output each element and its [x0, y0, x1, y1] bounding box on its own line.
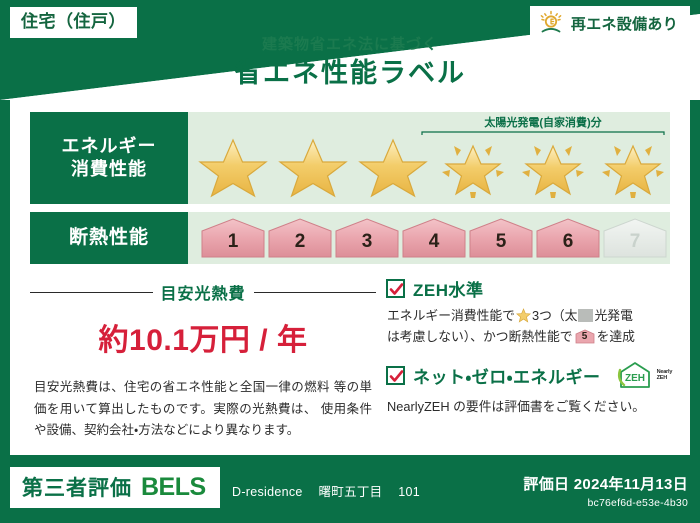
evaluation-date-value: 2024年11月13日 [574, 476, 688, 493]
star-6-solar [594, 132, 672, 198]
zeh-standard-body-line1: エネルギー消費性能で3つ（太光発電 [387, 306, 672, 327]
bels-third-party-label: 第三者評価 [22, 472, 132, 502]
cost-note-line1: 目安光熱費は、住宅の省エネ性能と全国一律の燃料 [34, 380, 330, 394]
insulation-grade-2: 2 [267, 217, 333, 259]
insulation-grade-2-value: 2 [267, 217, 333, 259]
claims-block: ZEH水準 エネルギー消費性能で3つ（太光発電 は考慮しない）、かつ断熱性能で5… [382, 276, 672, 444]
solar-badge-label: 再エネ設備あり [571, 13, 678, 34]
property-name: D-residence [232, 485, 303, 499]
inline-grade-badge: 5 [575, 329, 595, 344]
property-unit: 101 [398, 485, 420, 499]
claim-net-zero-head: ネット・ゼロ・エネルギー ZEH Nearly ZEH [386, 361, 672, 389]
evaluation-info: 評価日 2024年11月13日 bc76ef6d-e53e-4b30 [523, 473, 688, 509]
insulation-grade-5: 5 [468, 217, 534, 259]
star-2 [274, 132, 352, 198]
claim-zeh-standard: ZEH水準 エネルギー消費性能で3つ（太光発電 は考慮しない）、かつ断熱性能で5… [386, 276, 672, 347]
title-main: 省エネ性能ラベル [0, 56, 700, 91]
label-card: エネルギー 消費性能 太陽光発電(自家消費)分 [10, 100, 690, 455]
zeh-tag-line1: Nearly [657, 369, 673, 375]
energy-label-line1: エネルギー [62, 135, 157, 158]
evaluation-date-label: 評価日 [523, 476, 569, 493]
insulation-performance-label: 断熱性能 [30, 212, 188, 264]
net-zero-body-line1: NearlyZEH の要件は評価書をご覧ください。 [387, 397, 672, 418]
insulation-grade-area: 1 2 3 [188, 212, 670, 264]
bels-mark: BELS [141, 473, 206, 502]
star-3 [354, 132, 432, 198]
claim-net-zero-title: ネット・ゼロ・エネルギー [413, 363, 601, 388]
property-address: 曙町五丁目 [318, 485, 382, 499]
zeh-body-text-e: を達成 [597, 329, 635, 344]
insulation-grade-4-value: 4 [401, 217, 467, 259]
energy-label-line2: 消費性能 [71, 158, 147, 181]
zeh-house-logo: ZEH Nearly ZEH [615, 361, 673, 389]
claim-net-zero-energy: ネット・ゼロ・エネルギー ZEH Nearly ZEH [386, 361, 672, 418]
zeh-tag-line2: ZEH [657, 375, 667, 381]
net-zero-checkbox[interactable] [386, 366, 405, 385]
insulation-grade-1-value: 1 [200, 217, 266, 259]
insulation-grade-5-value: 5 [468, 217, 534, 259]
utility-cost-block: 目安光熱費 約10.1万円 / 年 目安光熱費は、住宅の省エネ性能と全国一律の燃… [30, 276, 382, 444]
lower-section: 目安光熱費 約10.1万円 / 年 目安光熱費は、住宅の省エネ性能と全国一律の燃… [30, 276, 670, 444]
energy-performance-row: エネルギー 消費性能 太陽光発電(自家消費)分 [30, 112, 670, 204]
heading-rule-right [254, 292, 377, 293]
inline-grade-value: 5 [575, 329, 595, 344]
zeh-body-text-c: 光発電 [594, 308, 632, 323]
insulation-grade-4: 4 [401, 217, 467, 259]
utility-cost-value: 約10.1万円 / 年 [30, 315, 376, 359]
zeh-body-text-d: は考慮しない）、かつ断熱性能で [387, 329, 573, 344]
inline-star-icon [516, 308, 531, 323]
claim-zeh-standard-head: ZEH水準 [386, 276, 672, 301]
zeh-body-text-a: エネルギー消費性能で [387, 308, 515, 323]
claim-net-zero-body: NearlyZEH の要件は評価書をご覧ください。 [387, 397, 672, 418]
energy-performance-label: エネルギー 消費性能 [30, 112, 188, 204]
solar-equipment-badge: 再エネ設備あり [530, 6, 690, 40]
insulation-performance-row: 断熱性能 [30, 212, 670, 264]
evaluation-id: bc76ef6d-e53e-4b30 [523, 497, 688, 509]
insulation-grade-7-value: 7 [602, 217, 668, 259]
zeh-nearly-tag: Nearly ZEH [657, 369, 673, 382]
footer-bar: 第三者評価 BELS D-residence 曙町五丁目 101 評価日 202… [0, 455, 700, 523]
star-4-solar [434, 132, 512, 198]
svg-text:ZEH: ZEH [625, 373, 645, 384]
energy-performance-label: 住宅（住戸） 再エネ設備あり 建築物省エネ法に基づく 省エネ性能ラベル [0, 0, 700, 523]
redacted-block [578, 309, 593, 322]
insulation-grade-3-value: 3 [334, 217, 400, 259]
insulation-grade-6: 6 [535, 217, 601, 259]
star-rating-group [188, 132, 672, 198]
energy-rating-area: 太陽光発電(自家消費)分 [188, 112, 672, 204]
insulation-grade-group: 1 2 3 [188, 217, 668, 259]
solar-bracket-label: 太陽光発電(自家消費)分 [420, 114, 666, 130]
insulation-grade-1: 1 [200, 217, 266, 259]
utility-cost-note: 目安光熱費は、住宅の省エネ性能と全国一律の燃料 等の単価を用いて算出したものです… [30, 377, 376, 442]
claim-zeh-standard-title: ZEH水準 [413, 276, 484, 301]
bels-plate: 第三者評価 BELS [10, 467, 220, 508]
check-icon [389, 369, 404, 384]
property-info: D-residence 曙町五丁目 101 [232, 481, 420, 500]
utility-cost-heading: 目安光熱費 [30, 280, 376, 304]
insulation-grade-6-value: 6 [535, 217, 601, 259]
zeh-standard-checkbox[interactable] [386, 279, 405, 298]
zeh-house-icon: ZEH [615, 361, 655, 389]
zeh-body-text-b: 3つ（太 [532, 308, 578, 323]
sun-solar-icon [538, 10, 564, 36]
star-5-solar [514, 132, 592, 198]
star-1 [194, 132, 272, 198]
insulation-grade-3: 3 [334, 217, 400, 259]
label-title-block: 建築物省エネ法に基づく 省エネ性能ラベル [0, 36, 700, 91]
claim-zeh-standard-body: エネルギー消費性能で3つ（太光発電 は考慮しない）、かつ断熱性能で5を達成 [387, 306, 672, 347]
check-icon [389, 282, 404, 297]
zeh-standard-body-line2: は考慮しない）、かつ断熱性能で5を達成 [387, 327, 672, 348]
utility-cost-title: 目安光熱費 [161, 280, 246, 304]
evaluation-date: 評価日 2024年11月13日 [523, 473, 688, 494]
insulation-grade-7: 7 [602, 217, 668, 259]
house-type-tag: 住宅（住戸） [10, 7, 137, 38]
heading-rule-left [30, 292, 153, 293]
